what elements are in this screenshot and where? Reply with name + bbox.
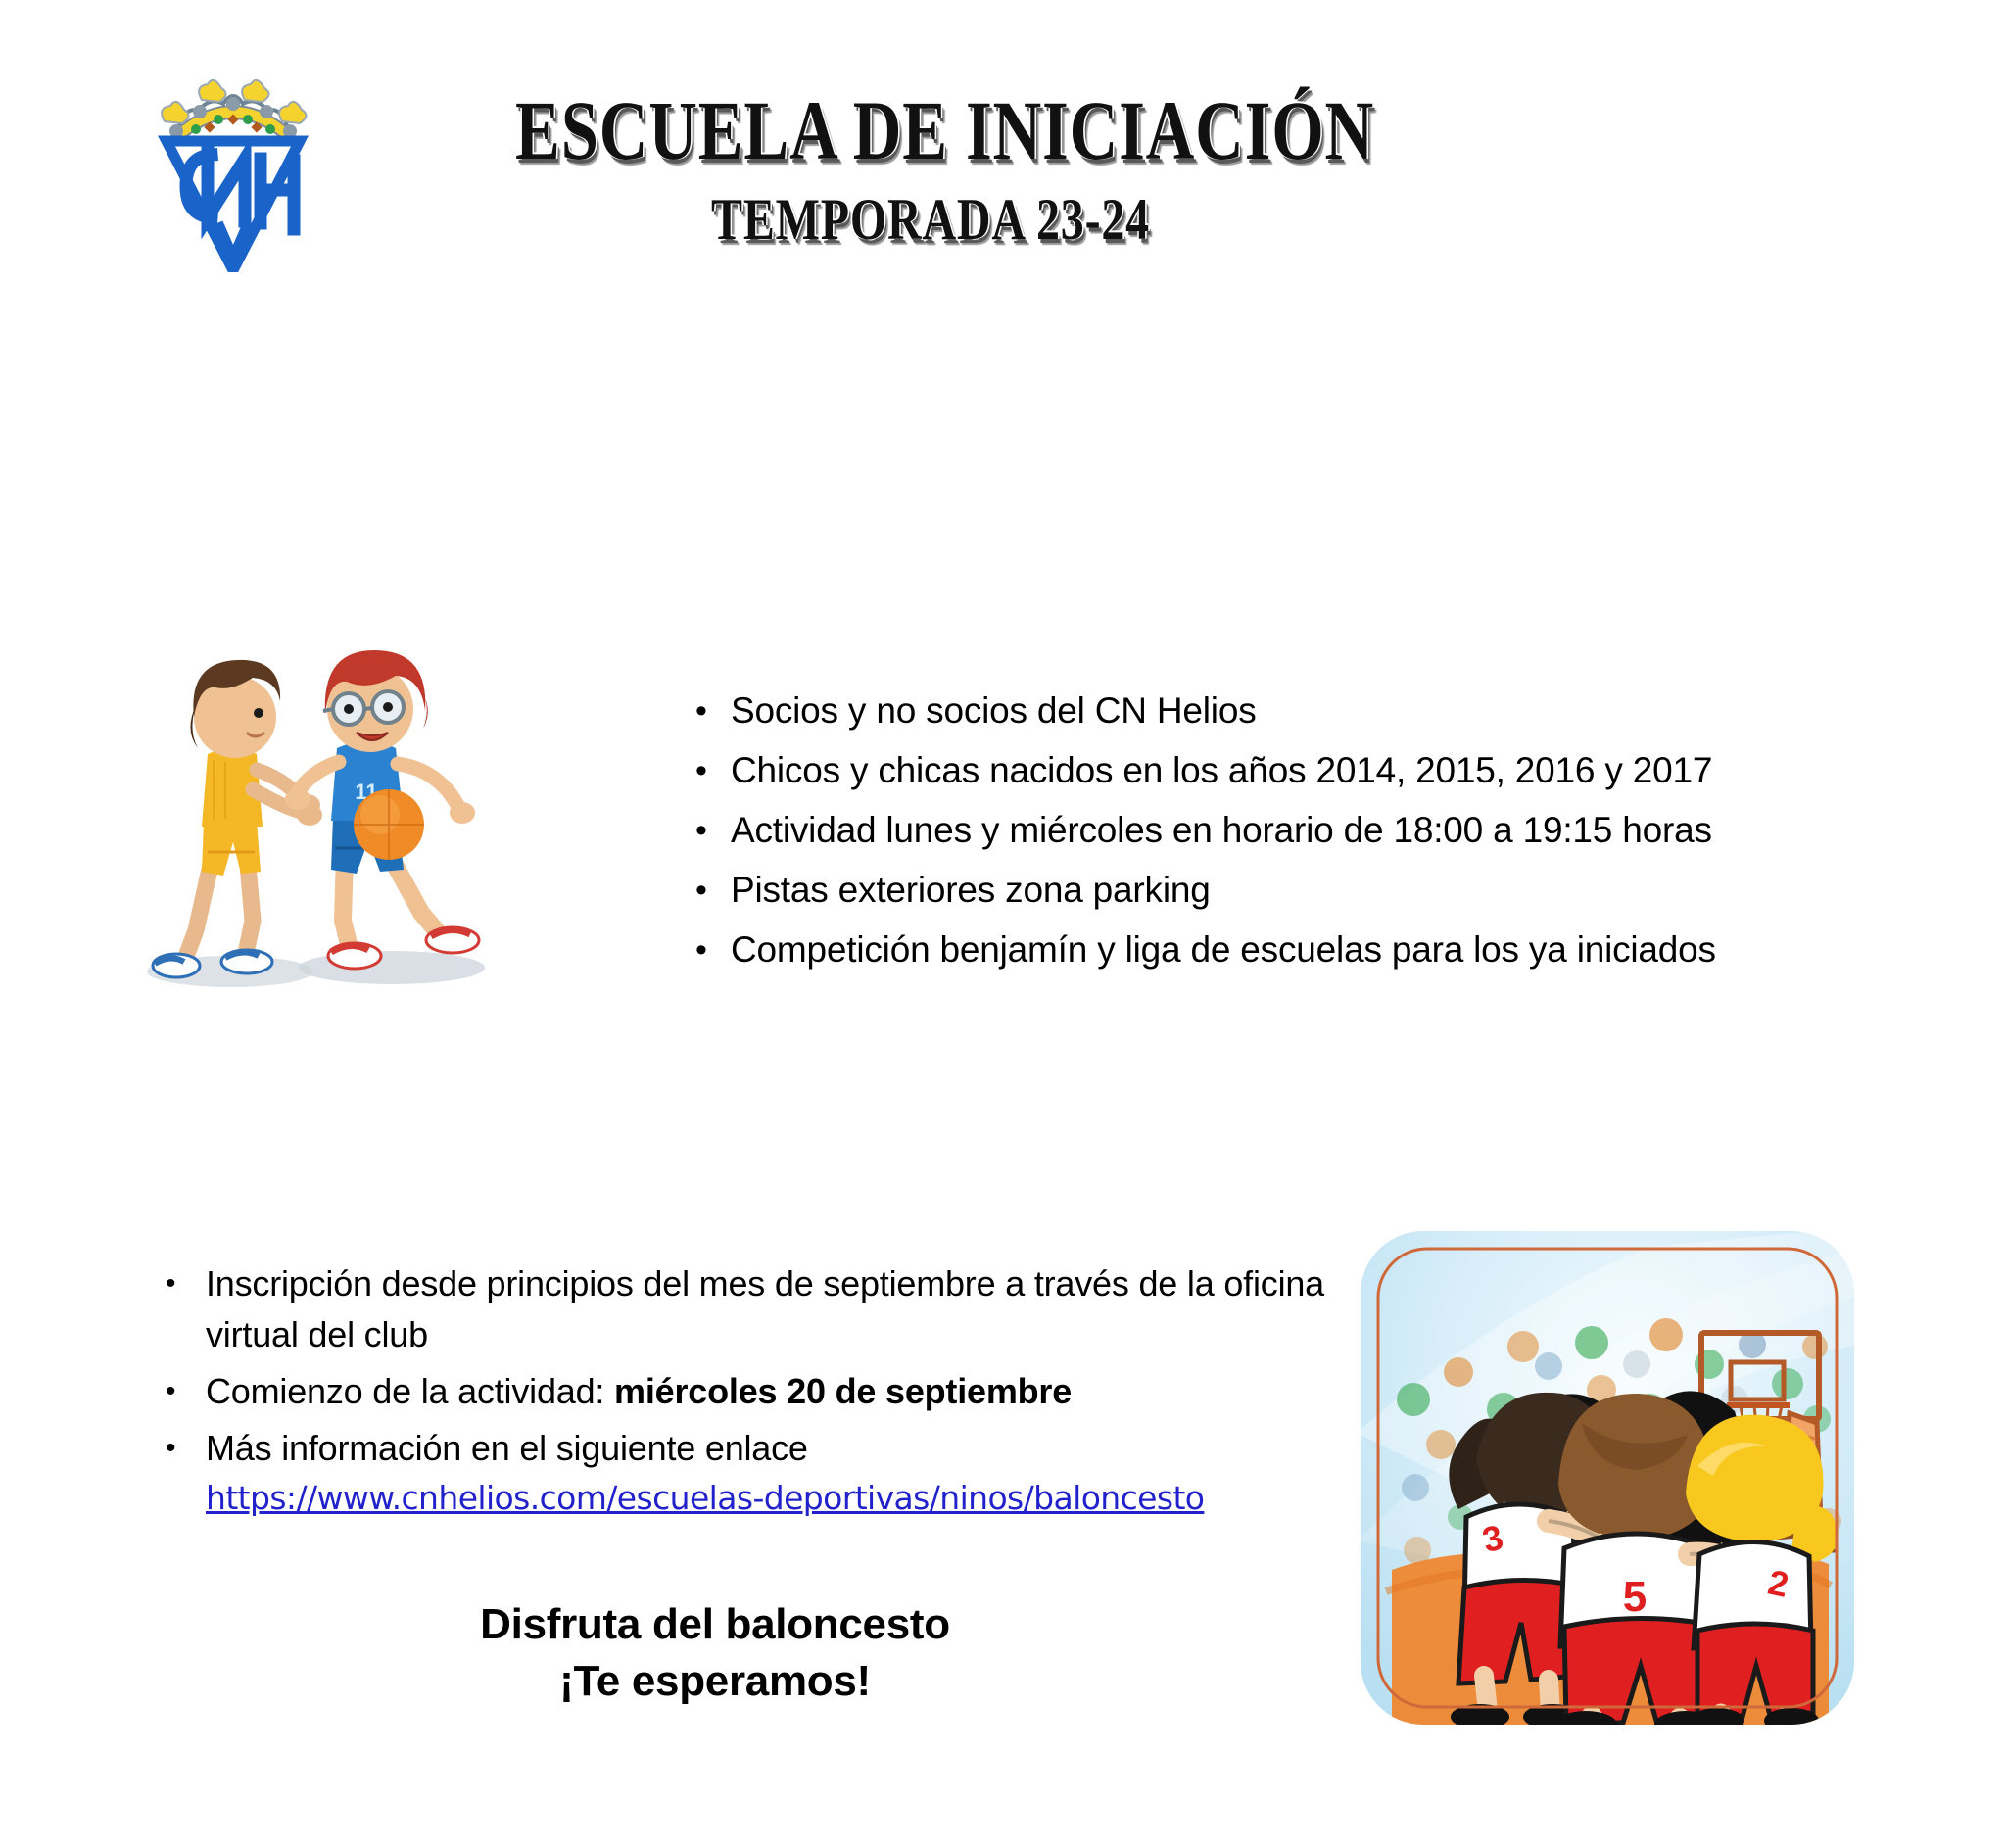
list-item: • Pistas exteriores zona parking [686,865,1920,916]
list-item: • Chicos y chicas nacidos en los años 20… [686,745,1920,796]
tagline-line-1: Disfruta del baloncesto [294,1596,1136,1653]
bullet-icon: • [686,924,731,975]
basketball-icon [354,789,424,860]
bullet-icon: • [686,805,731,856]
jersey-number-5: 5 [1623,1573,1647,1621]
kids-illustration-svg: 11 [98,607,490,999]
poster-header: ESCUELA DE INICIACIÓN TEMPORADA 23-24 [0,0,2006,323]
crest-svg [125,57,341,272]
start-date-value: miércoles 20 de septiembre [614,1371,1072,1411]
registration-bullet-list: • Inscripción desde principios del mes d… [152,1258,1347,1529]
list-item-label: Comienzo de la actividad: miércoles 20 d… [206,1366,1072,1417]
start-date-prefix: Comienzo de la actividad: [206,1371,614,1411]
bullet-icon: • [152,1423,206,1474]
page-subtitle: TEMPORADA 23-24 [515,190,1346,249]
title-block: ESCUELA DE INICIACIÓN TEMPORADA 23-24 [411,88,1450,249]
bullet-icon: • [686,865,731,916]
bullet-icon: • [686,745,731,796]
list-item-label: Más información en el siguiente enlace h… [206,1423,1204,1523]
two-kids-playing-basketball-illustration: 11 [98,607,490,999]
huddle-illustration-svg: 3 5 [1357,1227,1858,1729]
list-item-label: Socios y no socios del CN Helios [731,686,1257,736]
crown-icon [162,80,306,143]
more-info-label: Más información en el siguiente enlace [206,1428,808,1468]
bullet-icon: • [152,1366,206,1417]
list-item: • Actividad lunes y miércoles en horario… [686,805,1920,856]
tagline-line-2: ¡Te esperamos! [294,1653,1136,1710]
list-item: • Competición benjamín y liga de escuela… [686,924,1920,975]
list-item: • Socios y no socios del CN Helios [686,686,1920,736]
bullet-icon: • [686,686,731,736]
list-item-label: Pistas exteriores zona parking [731,865,1211,916]
closing-tagline: Disfruta del baloncesto ¡Te esperamos! [294,1596,1136,1710]
list-item-label: Chicos y chicas nacidos en los años 2014… [731,745,1712,796]
huddle-card-body: 3 5 [1357,1227,1858,1729]
list-item-label: Inscripción desde principios del mes de … [206,1258,1347,1360]
list-item: • Más información en el siguiente enlace… [152,1423,1347,1523]
cn-helios-crest-logo [125,57,341,272]
bullet-icon: • [152,1258,206,1309]
list-item-label: Actividad lunes y miércoles en horario d… [731,805,1712,856]
cnh-monogram [186,151,294,261]
list-item: • Comienzo de la actividad: miércoles 20… [152,1366,1347,1417]
page-title: ESCUELA DE INICIACIÓN [515,88,1346,172]
shadow-right [299,951,485,984]
main-bullet-list: • Socios y no socios del CN Helios • Chi… [686,686,1920,984]
list-item-label: Competición benjamín y liga de escuelas … [731,924,1716,975]
info-link[interactable]: https://www.cnhelios.com/escuelas-deport… [206,1474,1204,1523]
list-item: • Inscripción desde principios del mes d… [152,1258,1347,1360]
player-left [153,660,322,977]
team-huddle-illustration: 3 5 [1357,1227,1858,1729]
